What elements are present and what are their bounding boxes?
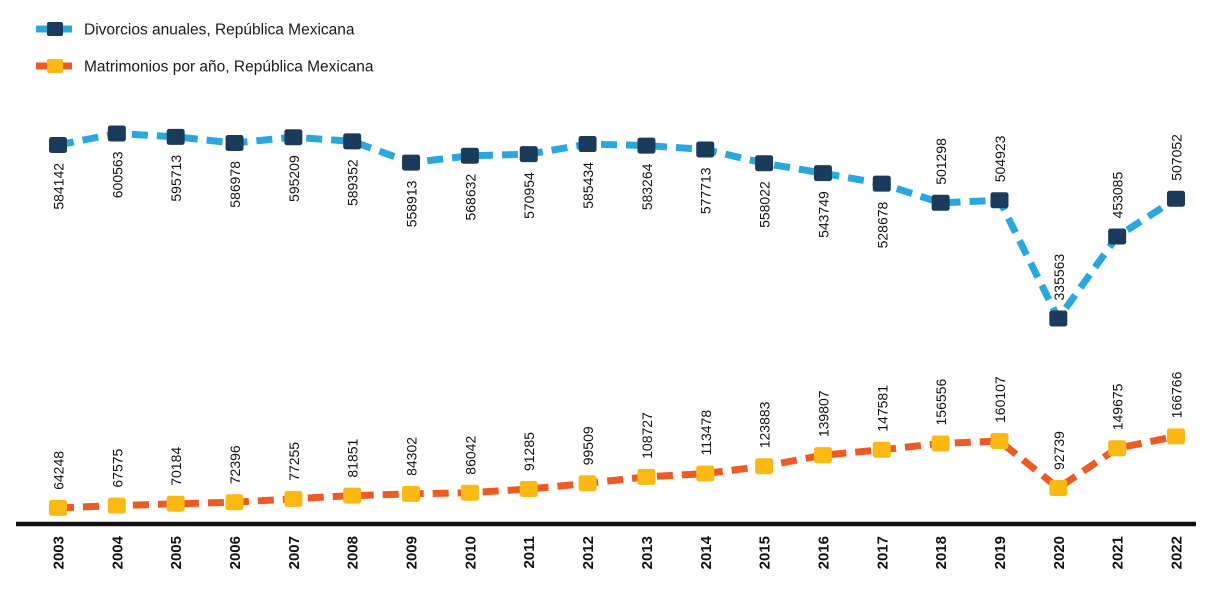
chart-legend: Divorcios anuales, República MexicanaMat… (36, 22, 374, 76)
x-axis-tick-labels: 2003200420052006200720082009201020112012… (51, 535, 1186, 569)
data-point-marker[interactable] (814, 447, 832, 463)
data-point-label: 92739 (1051, 431, 1067, 470)
x-tick-label: 2017 (874, 536, 891, 569)
x-tick-label: 2021 (1110, 536, 1127, 569)
data-point-marker[interactable] (49, 500, 67, 516)
data-point-label: 166766 (1169, 371, 1185, 418)
data-point-marker[interactable] (108, 498, 126, 514)
data-point-label: 99509 (580, 426, 596, 465)
data-point-marker[interactable] (755, 458, 773, 474)
data-point-label: 453085 (1110, 172, 1126, 219)
x-tick-label: 2003 (51, 536, 68, 569)
data-point-label: 156556 (933, 379, 949, 426)
data-point-label: 586978 (227, 161, 243, 208)
data-point-label: 507052 (1169, 134, 1185, 181)
data-point-marker[interactable] (167, 496, 185, 512)
data-point-label: 64248 (51, 451, 67, 490)
data-point-marker[interactable] (637, 138, 655, 154)
data-point-marker[interactable] (226, 494, 244, 510)
x-tick-label: 2006 (227, 536, 244, 569)
x-tick-label: 2012 (580, 536, 597, 569)
x-tick-label: 2014 (698, 535, 715, 569)
data-point-label: 595713 (168, 155, 184, 202)
data-point-label: 568632 (462, 174, 478, 221)
legend-item-1[interactable]: Matrimonios por año, República Mexicana (36, 59, 374, 76)
x-tick-label: 2004 (109, 535, 126, 569)
data-point-marker[interactable] (579, 475, 597, 491)
legend-item-0[interactable]: Divorcios anuales, República Mexicana (36, 22, 355, 39)
data-point-label: 77255 (286, 442, 302, 481)
data-point-marker[interactable] (226, 135, 244, 151)
x-tick-label: 2011 (521, 536, 538, 569)
data-point-marker[interactable] (1049, 311, 1067, 327)
data-point-marker[interactable] (1108, 228, 1126, 244)
data-point-label: 585434 (580, 162, 596, 209)
series-1: 6424867575701847239677255818518430286042… (49, 371, 1185, 515)
legend-label-1: Matrimonios por año, República Mexicana (84, 59, 374, 76)
x-tick-label: 2013 (639, 536, 656, 569)
data-point-marker[interactable] (167, 129, 185, 145)
data-point-marker[interactable] (520, 146, 538, 162)
data-point-marker[interactable] (1049, 480, 1067, 496)
data-point-marker[interactable] (461, 148, 479, 164)
x-tick-label: 2019 (992, 536, 1009, 569)
data-point-label: 84302 (404, 437, 420, 476)
data-point-marker[interactable] (1167, 191, 1185, 207)
data-point-marker[interactable] (755, 155, 773, 171)
series-line-0 (58, 134, 1176, 319)
x-tick-label: 2015 (757, 536, 774, 569)
data-point-marker[interactable] (1167, 428, 1185, 444)
data-point-marker[interactable] (579, 136, 597, 152)
x-tick-label: 2008 (345, 536, 362, 569)
chart-container: Divorcios anuales, República MexicanaMat… (0, 0, 1212, 588)
data-point-marker[interactable] (932, 195, 950, 211)
data-point-label: 108727 (639, 412, 655, 459)
data-point-marker[interactable] (520, 481, 538, 497)
data-point-marker[interactable] (637, 469, 655, 485)
data-point-label: 558913 (404, 180, 420, 227)
data-point-marker[interactable] (284, 491, 302, 507)
data-point-label: 72396 (227, 445, 243, 484)
legend-marker-1 (47, 59, 63, 73)
data-point-label: 595209 (286, 155, 302, 202)
legend-marker-0 (47, 22, 63, 36)
x-tick-label: 2022 (1169, 536, 1186, 569)
data-point-label: 70184 (168, 447, 184, 486)
divorces-marriages-line-chart: Divorcios anuales, República MexicanaMat… (0, 0, 1212, 588)
x-tick-label: 2005 (168, 536, 185, 569)
x-tick-label: 2009 (404, 536, 421, 569)
data-point-label: 335563 (1051, 254, 1067, 301)
data-point-label: 543749 (815, 191, 831, 238)
chart-series-group: 5841426005635957135869785952095893525589… (49, 126, 1185, 516)
data-point-marker[interactable] (696, 466, 714, 482)
data-point-label: 149675 (1110, 383, 1126, 430)
data-point-marker[interactable] (461, 485, 479, 501)
x-tick-label: 2010 (462, 536, 479, 569)
data-point-marker[interactable] (696, 141, 714, 157)
data-point-label: 67575 (109, 448, 125, 487)
data-point-label: 91285 (521, 432, 537, 471)
data-point-label: 147581 (874, 385, 890, 432)
data-point-label: 583264 (639, 163, 655, 210)
data-point-label: 577713 (698, 167, 714, 214)
data-point-label: 501298 (933, 138, 949, 185)
data-point-marker[interactable] (402, 155, 420, 171)
data-point-label: 81851 (345, 438, 361, 477)
data-point-marker[interactable] (990, 433, 1008, 449)
data-point-marker[interactable] (343, 133, 361, 149)
data-point-label: 589352 (345, 159, 361, 206)
data-point-marker[interactable] (402, 486, 420, 502)
data-point-marker[interactable] (49, 137, 67, 153)
data-point-label: 86042 (462, 436, 478, 475)
data-point-label: 584142 (51, 163, 67, 210)
data-point-marker[interactable] (1108, 440, 1126, 456)
data-point-marker[interactable] (343, 488, 361, 504)
data-point-label: 528678 (874, 201, 890, 248)
data-point-marker[interactable] (873, 442, 891, 458)
x-tick-label: 2018 (933, 536, 950, 569)
data-point-label: 139807 (815, 390, 831, 437)
data-point-marker[interactable] (284, 129, 302, 145)
data-point-marker[interactable] (873, 176, 891, 192)
data-point-label: 570954 (521, 172, 537, 219)
x-tick-label: 2020 (1051, 536, 1068, 569)
data-point-label: 160107 (992, 376, 1008, 423)
series-0: 5841426005635957135869785952095893525589… (49, 126, 1185, 327)
data-point-label: 600563 (109, 151, 125, 198)
data-point-marker[interactable] (814, 165, 832, 181)
data-point-marker[interactable] (108, 126, 126, 142)
data-point-marker[interactable] (932, 435, 950, 451)
data-point-label: 113478 (698, 410, 714, 456)
data-point-marker[interactable] (990, 192, 1008, 208)
legend-label-0: Divorcios anuales, República Mexicana (84, 22, 355, 39)
x-tick-label: 2007 (286, 536, 303, 569)
data-point-label: 123883 (757, 401, 773, 448)
data-point-label: 504923 (992, 135, 1008, 182)
data-point-label: 558022 (757, 181, 773, 228)
x-tick-label: 2016 (815, 536, 832, 569)
